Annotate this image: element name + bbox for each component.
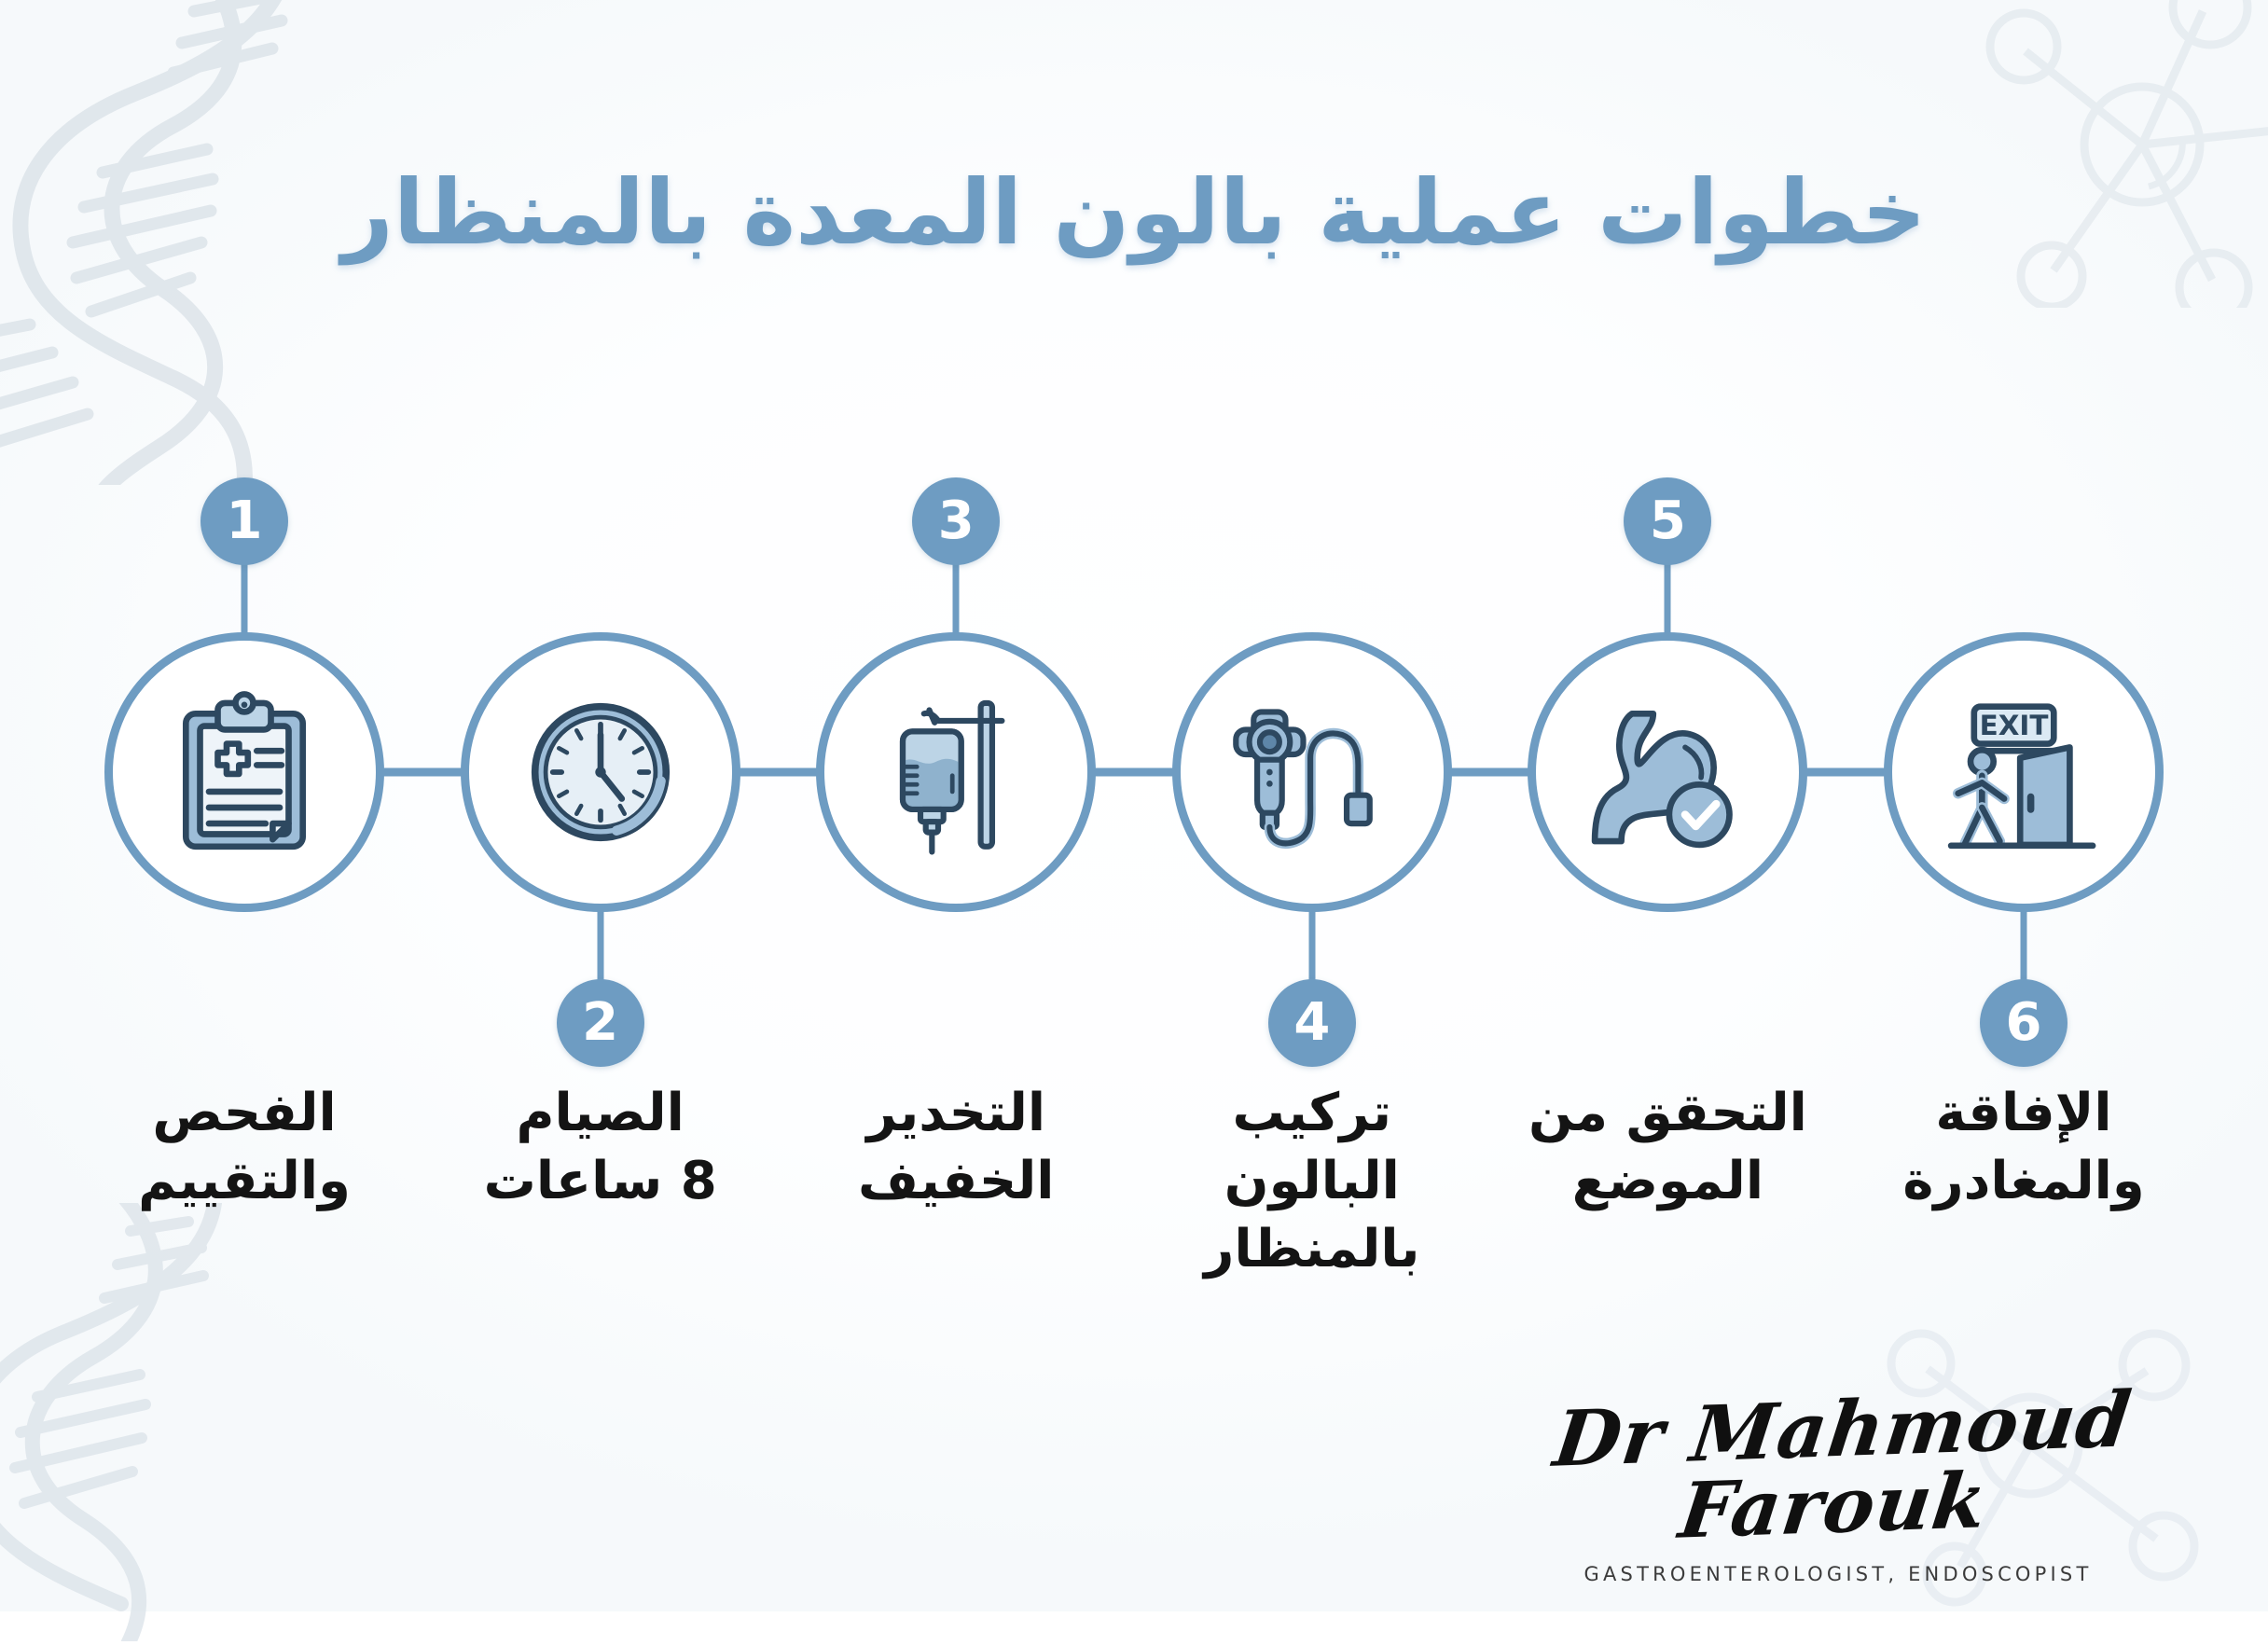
- step-4-label: تركيب البالون بالمنظار: [1148, 1080, 1476, 1283]
- step-6-label: الإفاقة والمغادرة: [1860, 1080, 2188, 1216]
- step-2-number-badge: 2: [557, 979, 644, 1067]
- step-4-number-badge: 4: [1268, 979, 1356, 1067]
- step-5-icon-circle: [1528, 632, 1807, 912]
- page-title: خطوات عملية بالون المعدة بالمنظار: [0, 160, 2268, 266]
- step-2-icon-circle: [461, 632, 740, 912]
- step-3-stem: [953, 560, 960, 638]
- step-3-label: التخدير الخفيف: [792, 1080, 1120, 1216]
- step-6-number-badge: 6: [1980, 979, 2067, 1067]
- step-1[interactable]: 1: [104, 632, 384, 912]
- step-4[interactable]: 4: [1172, 632, 1452, 912]
- step-4-icon-circle: [1172, 632, 1452, 912]
- stomach-check-icon: [1579, 684, 1756, 861]
- step-1-label: الفحص والتقييم: [80, 1080, 408, 1216]
- step-1-icon-circle: [104, 632, 384, 912]
- steps-flow: EXIT: [0, 623, 2268, 921]
- doctor-signature: Dr Mahmoud Farouk: [1505, 1380, 2171, 1555]
- step-4-stem: [1308, 906, 1315, 985]
- step-6[interactable]: EXIT: [1884, 632, 2164, 912]
- step-2-label: الصيام 8 ساعات: [436, 1080, 765, 1216]
- endoscope-icon: [1224, 684, 1401, 861]
- step-5-label: التحقق من الموضع: [1503, 1080, 1832, 1216]
- step-2[interactable]: 2: [461, 632, 740, 912]
- clock-icon: [512, 684, 689, 861]
- step-5-number-badge: 5: [1624, 477, 1711, 565]
- step-3-icon-circle: [816, 632, 1096, 912]
- step-6-icon-circle: EXIT: [1884, 632, 2164, 912]
- signature-block: Dr Mahmoud Farouk GASTROENTEROLOGIST, EN…: [1516, 1391, 2160, 1585]
- step-3[interactable]: 3: [816, 632, 1096, 912]
- exit-door-icon: EXIT: [1935, 684, 2112, 861]
- step-1-number-badge: 1: [201, 477, 288, 565]
- step-6-stem: [2021, 906, 2027, 985]
- step-3-number-badge: 3: [912, 477, 1000, 565]
- step-2-stem: [597, 906, 603, 985]
- iv-drip-icon: [867, 684, 1044, 861]
- clipboard-medical-icon: [156, 684, 333, 861]
- doctor-role: GASTROENTEROLOGIST, ENDOSCOPIST: [1516, 1563, 2160, 1585]
- svg-text:EXIT: EXIT: [1980, 710, 2049, 741]
- step-1-stem: [242, 560, 248, 638]
- steps-labels: الإفاقة والمغادرة التحقق من الموضع تركيب…: [0, 1080, 2268, 1360]
- step-5[interactable]: 5: [1528, 632, 1807, 912]
- infographic-canvas: خطوات عملية بالون المعدة بالمنظار EXIT: [0, 0, 2268, 1611]
- step-5-stem: [1665, 560, 1671, 638]
